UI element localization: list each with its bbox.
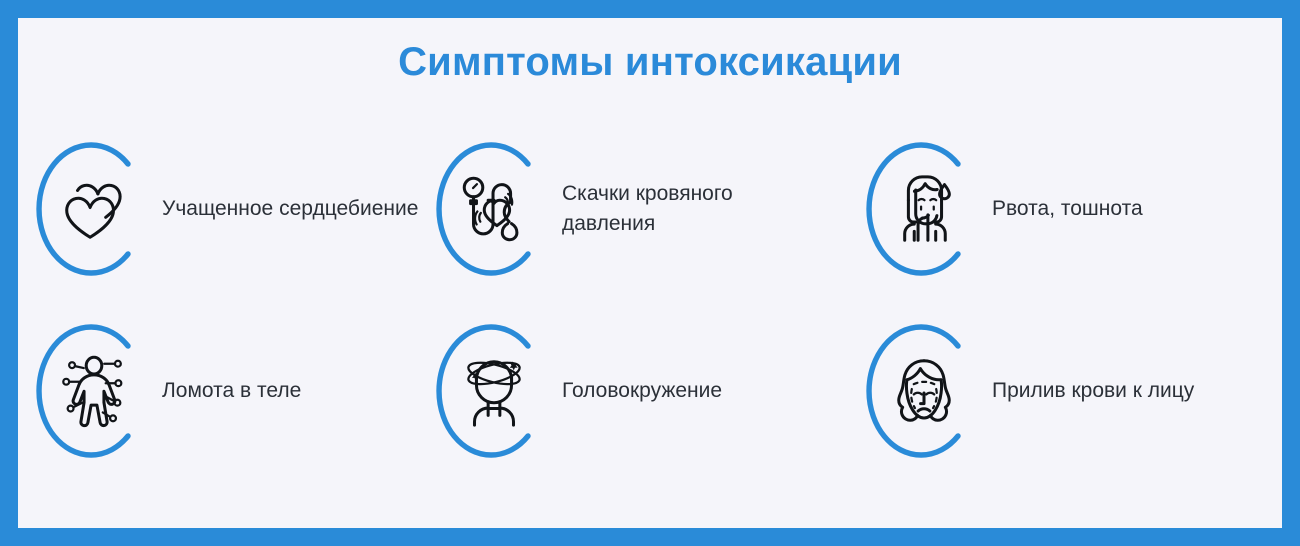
icon-badge bbox=[36, 317, 152, 465]
flushed-face-icon bbox=[885, 351, 963, 431]
symptom-item-body-ache: Ломота в теле bbox=[36, 317, 436, 465]
icon-badge bbox=[436, 317, 552, 465]
icon-badge bbox=[436, 135, 552, 283]
symptom-label: Скачки кровяного давления bbox=[562, 179, 822, 239]
nausea-person-icon bbox=[885, 169, 963, 249]
body-ache-figure-icon bbox=[55, 351, 133, 431]
icon-badge bbox=[36, 135, 152, 283]
content-panel: Симптомы интоксикации Учащенное сердцеби… bbox=[18, 18, 1282, 528]
symptom-label: Учащенное сердцебиение bbox=[162, 194, 418, 224]
intoxication-symptoms-infographic: Симптомы интоксикации Учащенное сердцеби… bbox=[0, 0, 1300, 546]
symptom-item-nausea: Рвота, тошнота bbox=[866, 135, 1266, 283]
symptom-item-dizziness: Головокружение bbox=[436, 317, 866, 465]
blood-pressure-monitor-icon bbox=[455, 169, 533, 249]
symptom-label: Рвота, тошнота bbox=[992, 194, 1143, 224]
symptom-label: Ломота в теле bbox=[162, 376, 301, 406]
page-title: Симптомы интоксикации bbox=[18, 40, 1282, 85]
icon-badge bbox=[866, 317, 982, 465]
double-heart-icon bbox=[55, 169, 133, 249]
symptom-item-facial-flushing: Прилив крови к лицу bbox=[866, 317, 1266, 465]
symptom-label: Головокружение bbox=[562, 376, 722, 406]
symptom-label: Прилив крови к лицу bbox=[992, 376, 1194, 406]
symptom-item-heartbeat: Учащенное сердцебиение bbox=[36, 135, 436, 283]
icon-badge bbox=[866, 135, 982, 283]
symptoms-grid: Учащенное сердцебиение bbox=[36, 118, 1272, 482]
dizzy-head-icon bbox=[455, 351, 533, 431]
symptom-item-blood-pressure: Скачки кровяного давления bbox=[436, 135, 866, 283]
